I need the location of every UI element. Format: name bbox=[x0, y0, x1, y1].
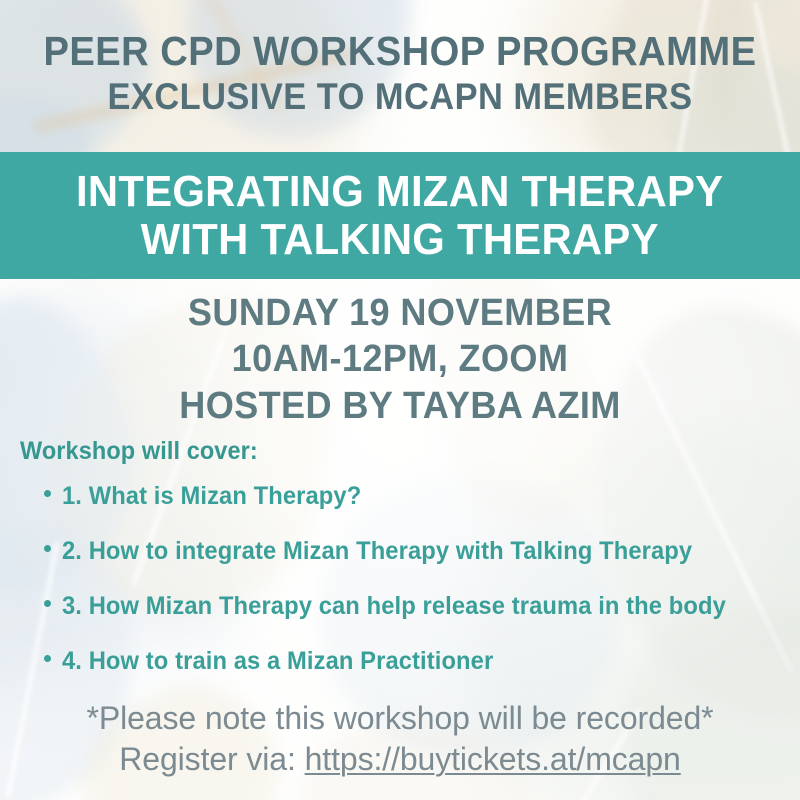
list-item: 4. How to train as a Mizan Practitioner bbox=[44, 647, 800, 702]
bullet-dot-icon bbox=[44, 600, 51, 607]
agenda-label: Workshop will cover: bbox=[20, 437, 258, 466]
register-link[interactable]: https://buytickets.at/mcapn bbox=[305, 741, 681, 777]
agenda-list: 1. What is Mizan Therapy? 2. How to inte… bbox=[44, 482, 800, 702]
recording-note: *Please note this workshop will be recor… bbox=[0, 698, 800, 739]
bullet-dot-icon bbox=[44, 490, 51, 497]
register-line: Register via: https://buytickets.at/mcap… bbox=[0, 739, 800, 780]
bullet-dot-icon bbox=[44, 655, 51, 662]
header-line-2: EXCLUSIVE TO MCAPN MEMBERS bbox=[28, 77, 772, 116]
register-prefix-label: Register via: bbox=[119, 741, 304, 777]
event-host: HOSTED BY TAYBA AZIM bbox=[20, 383, 780, 429]
when-block: SUNDAY 19 NOVEMBER 10AM-12PM, ZOOM HOSTE… bbox=[0, 290, 800, 429]
list-item: 3. How Mizan Therapy can help release tr… bbox=[44, 592, 800, 647]
footer-block: *Please note this workshop will be recor… bbox=[0, 698, 800, 780]
event-time-platform: 10AM-12PM, ZOOM bbox=[20, 336, 780, 382]
header-title-block: PEER CPD WORKSHOP PROGRAMME EXCLUSIVE TO… bbox=[0, 30, 800, 117]
agenda-item-text: 4. How to train as a Mizan Practitioner bbox=[62, 647, 493, 676]
workshop-title-line-1: INTEGRATING MIZAN THERAPY bbox=[76, 168, 723, 215]
agenda-item-text: 2. How to integrate Mizan Therapy with T… bbox=[62, 537, 692, 566]
workshop-title-banner: INTEGRATING MIZAN THERAPY WITH TALKING T… bbox=[0, 152, 800, 279]
list-item: 2. How to integrate Mizan Therapy with T… bbox=[44, 537, 800, 592]
list-item: 1. What is Mizan Therapy? bbox=[44, 482, 800, 537]
header-line-1: PEER CPD WORKSHOP PROGRAMME bbox=[28, 30, 772, 73]
workshop-title-line-2: WITH TALKING THERAPY bbox=[141, 216, 659, 263]
agenda-item-text: 1. What is Mizan Therapy? bbox=[62, 482, 361, 511]
agenda-item-text: 3. How Mizan Therapy can help release tr… bbox=[62, 592, 726, 621]
event-date: SUNDAY 19 NOVEMBER bbox=[20, 290, 780, 336]
bullet-dot-icon bbox=[44, 545, 51, 552]
poster-canvas: PEER CPD WORKSHOP PROGRAMME EXCLUSIVE TO… bbox=[0, 0, 800, 800]
poster-content: PEER CPD WORKSHOP PROGRAMME EXCLUSIVE TO… bbox=[0, 0, 800, 800]
